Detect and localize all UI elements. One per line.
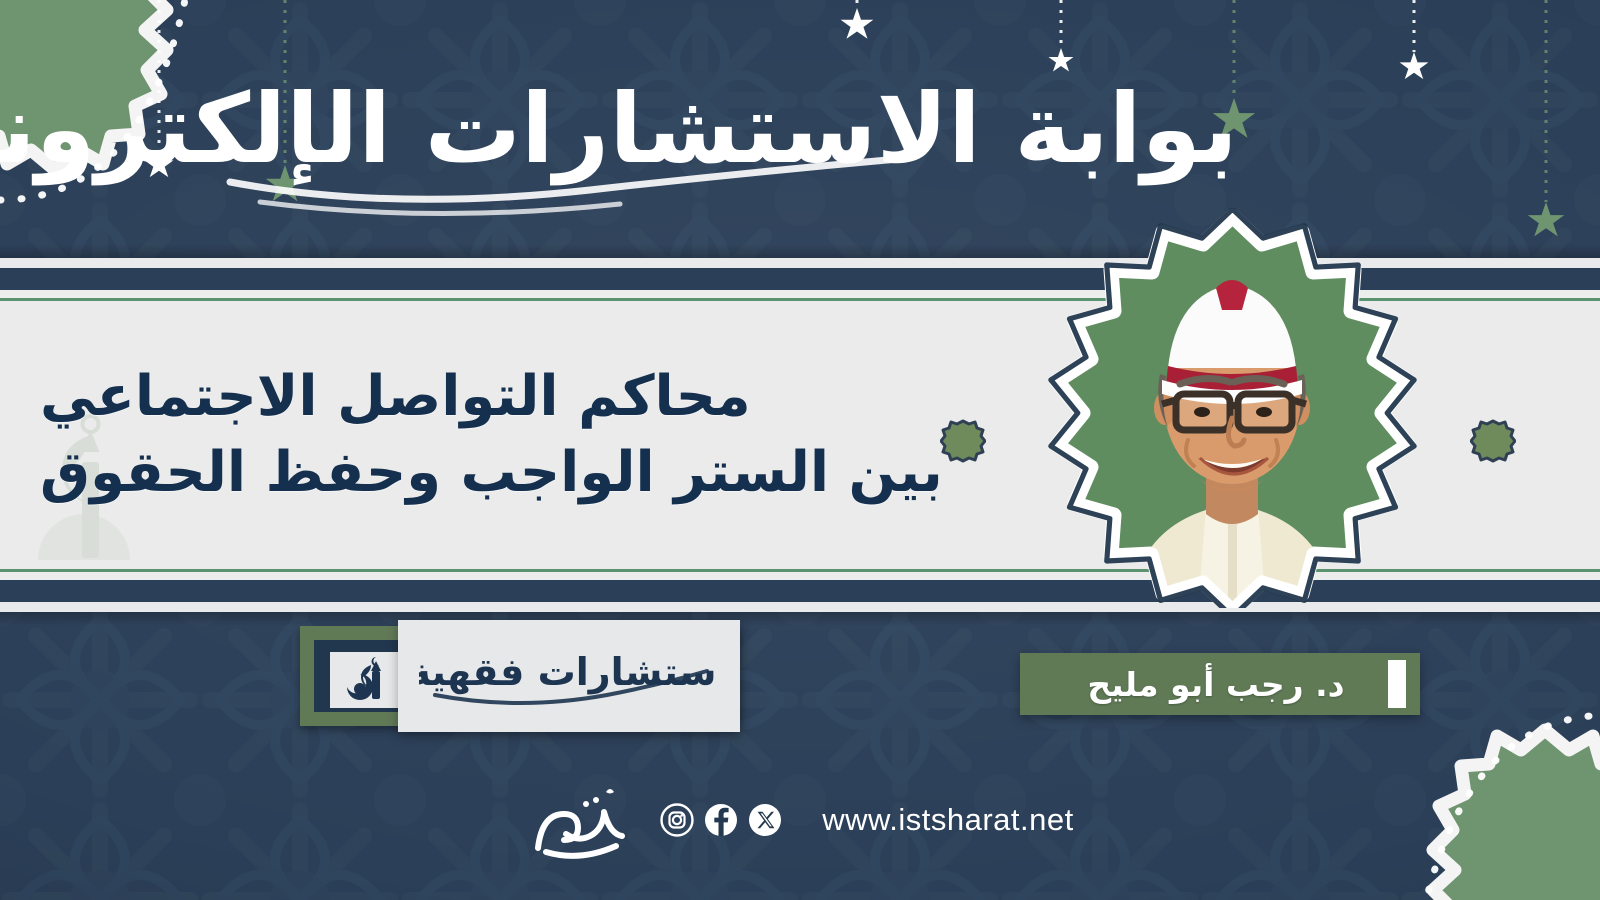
speaker-name: د. رجب أبو مليح bbox=[1020, 665, 1378, 704]
plaque-icon-box bbox=[330, 652, 400, 708]
title-line-1: محاكم التواصل الاجتماعي bbox=[40, 359, 751, 435]
almujtama-logo: المجتمع bbox=[526, 778, 636, 862]
star-cord bbox=[1060, 0, 1063, 48]
x-twitter-icon[interactable] bbox=[748, 803, 782, 837]
header-calligraphy: بوابة الاستشارات الإلكترونية bbox=[190, 62, 950, 232]
consultations-plaque: استشارات فقهية bbox=[300, 620, 740, 738]
footer-bar: المجتمع www.istsharat.net bbox=[0, 770, 1600, 870]
header-calligraphy-text: بوابة الاستشارات الإلكترونية bbox=[0, 73, 1238, 186]
band-shadow-bottom bbox=[0, 612, 1600, 626]
title-line-2: بين الستر الواجب وحفظ الحقوق bbox=[40, 435, 943, 511]
plaque-calligraphy: استشارات فقهية bbox=[419, 633, 719, 719]
facebook-icon[interactable] bbox=[704, 803, 738, 837]
main-title: محاكم التواصل الاجتماعي بين الستر الواجب… bbox=[40, 315, 920, 555]
promo-banner: بوابة الاستشارات الإلكترونية محاكم التوا… bbox=[0, 0, 1600, 900]
website-url[interactable]: www.istsharat.net bbox=[822, 802, 1073, 838]
instagram-icon[interactable] bbox=[660, 803, 694, 837]
social-links[interactable] bbox=[660, 803, 782, 837]
band-rosette-left bbox=[940, 418, 986, 464]
mosque-crescent-icon bbox=[339, 657, 391, 703]
badge-accent-bar bbox=[1388, 660, 1406, 708]
plaque-calligraphy-text: استشارات فقهية bbox=[419, 650, 719, 694]
speaker-name-badge: د. رجب أبو مليح bbox=[1020, 653, 1420, 715]
star-cord bbox=[1413, 0, 1416, 52]
star-cord bbox=[856, 0, 859, 8]
star-cord bbox=[1545, 0, 1548, 202]
speaker-portrait bbox=[1010, 208, 1455, 608]
band-rosette-right bbox=[1470, 418, 1516, 464]
plaque-calligraphy-panel: استشارات فقهية bbox=[398, 620, 740, 732]
